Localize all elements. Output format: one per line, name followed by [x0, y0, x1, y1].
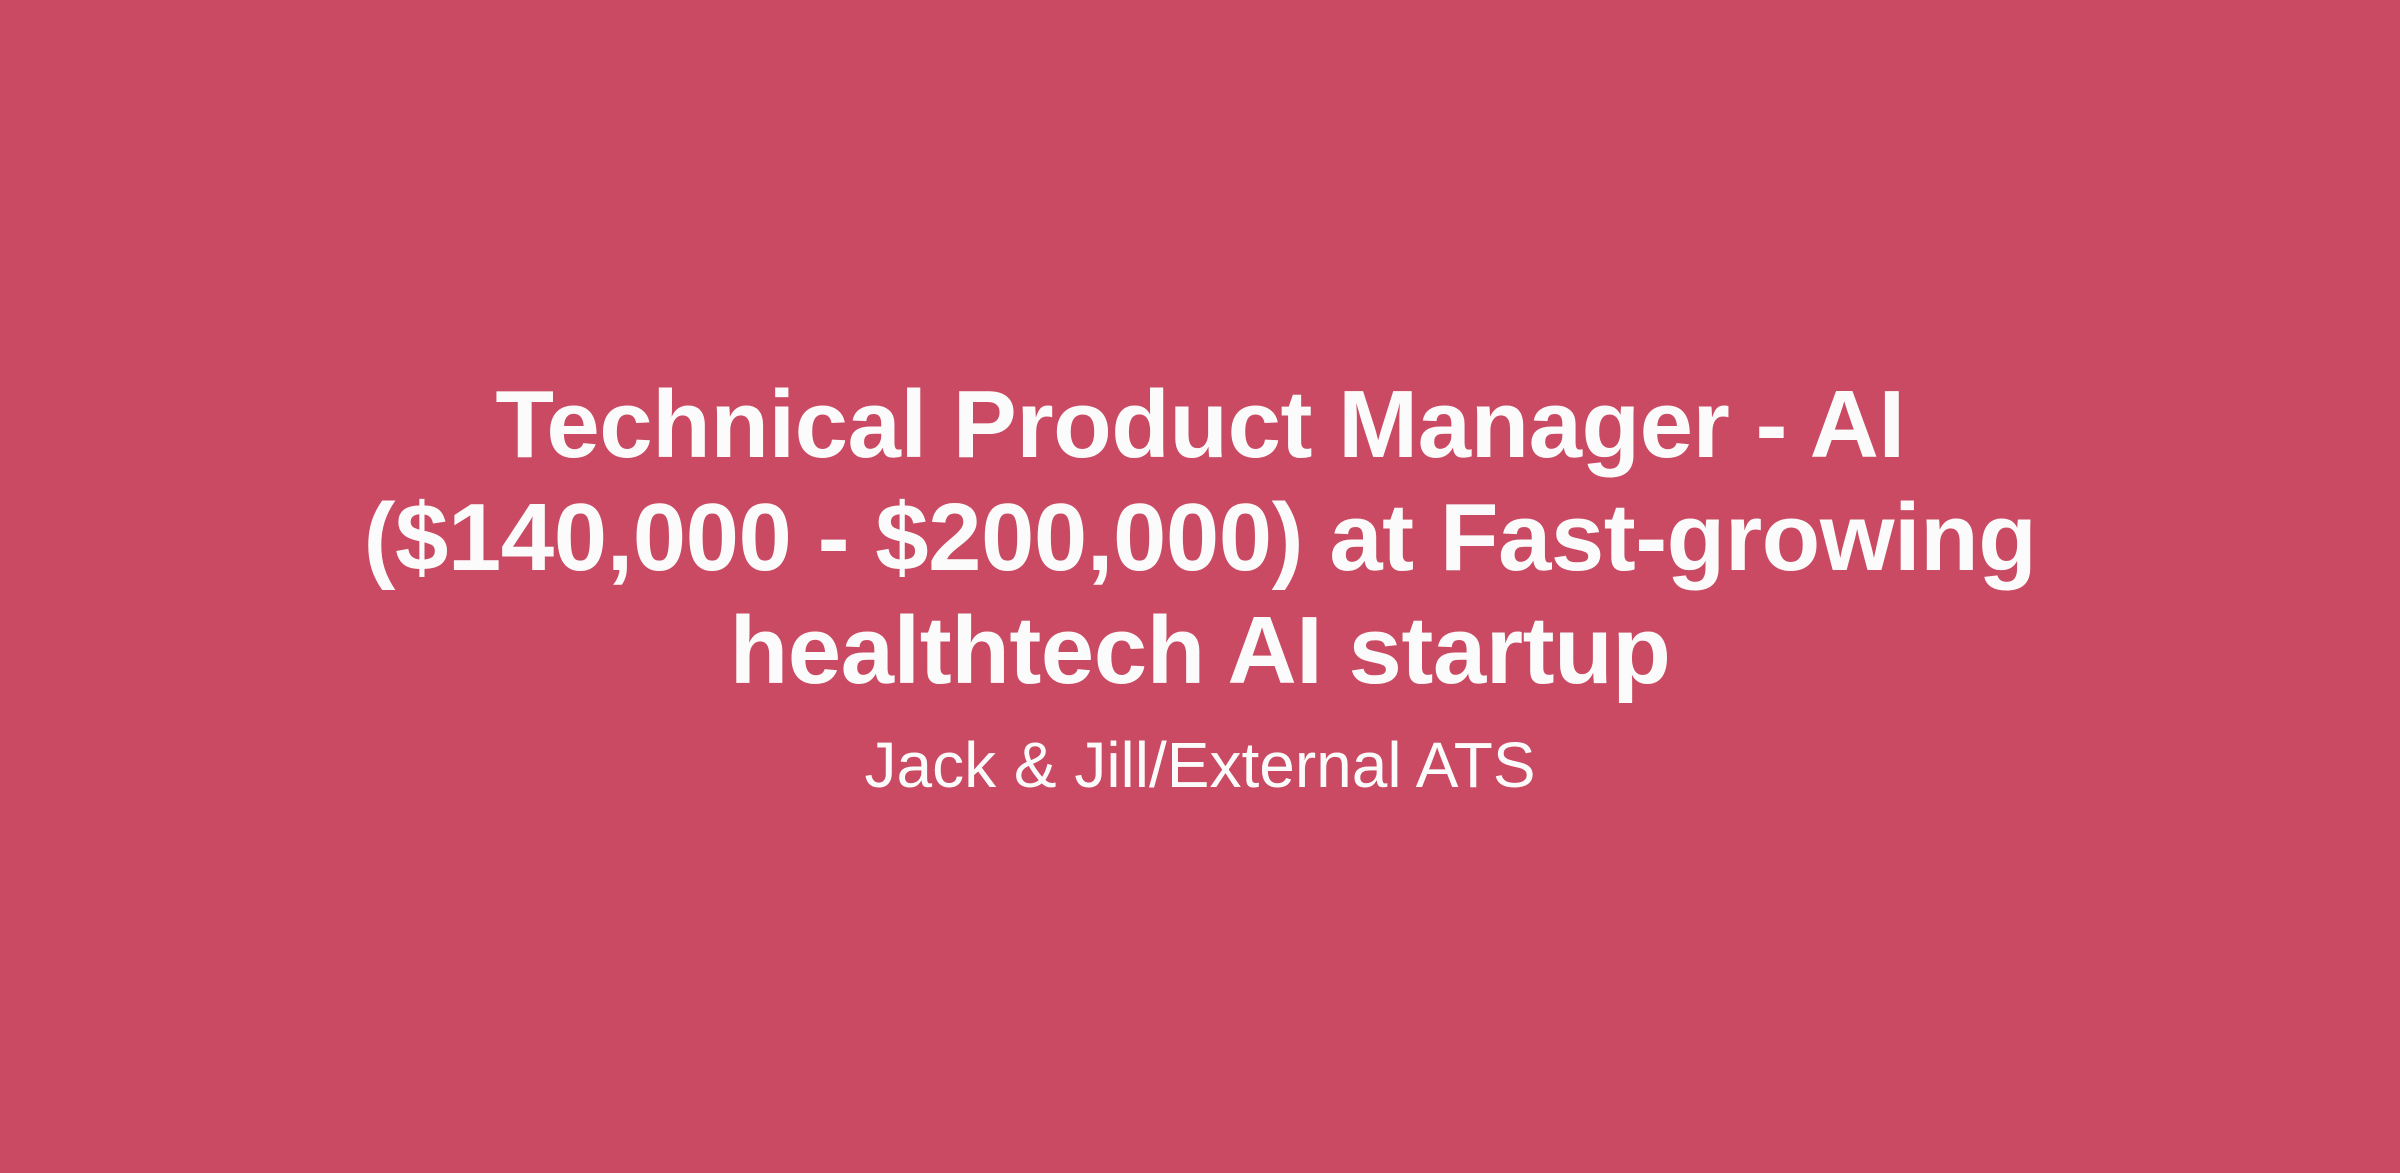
job-title: Technical Product Manager - AI ($140,000…: [340, 368, 2060, 708]
job-posting-preview-card: Technical Product Manager - AI ($140,000…: [0, 0, 2400, 1173]
card-text-block: Technical Product Manager - AI ($140,000…: [340, 368, 2060, 806]
company-name: Jack & Jill/External ATS: [864, 725, 1535, 805]
